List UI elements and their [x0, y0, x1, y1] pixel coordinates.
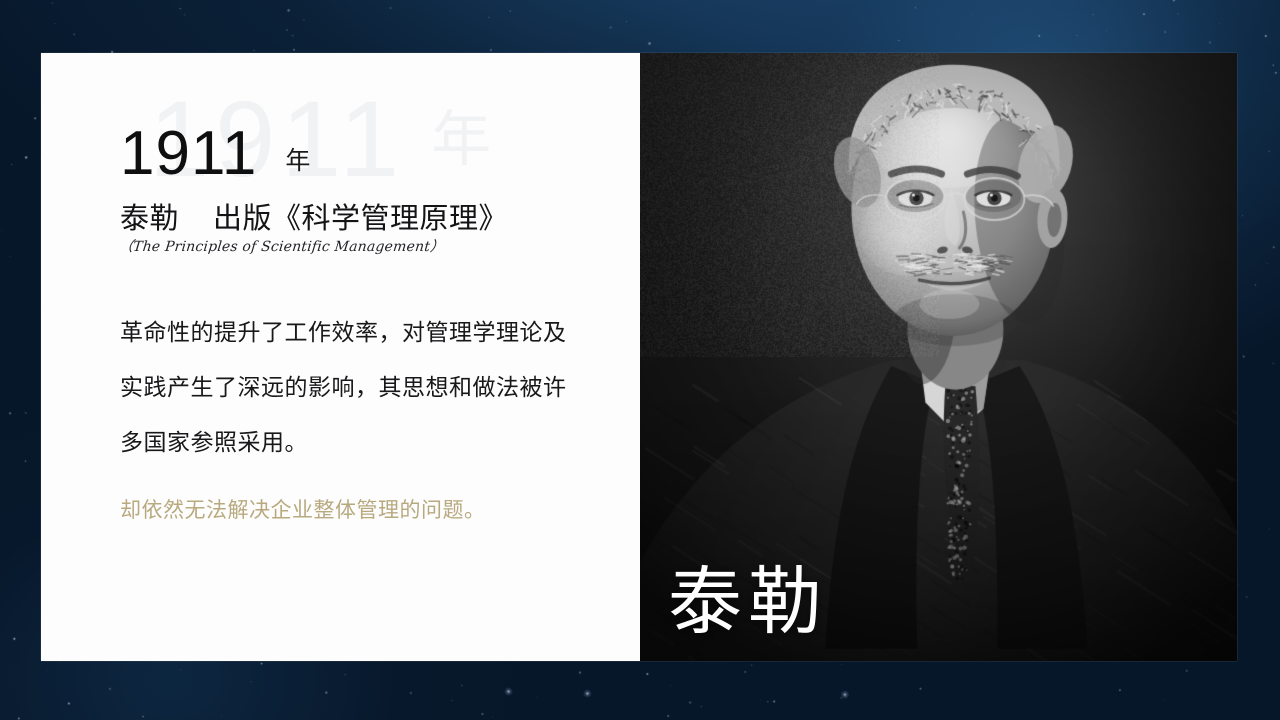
slide-canvas: 1911年 1911年 泰勒出版《科学管理原理》 （The Principles…	[0, 0, 1280, 720]
subline-action: 出版《科学管理原理》	[213, 203, 508, 235]
script-subtitle: （The Principles of Scientific Management…	[118, 236, 446, 256]
subline-person: 泰勒	[120, 203, 179, 235]
text-pane: 1911年 1911年 泰勒出版《科学管理原理》 （The Principles…	[41, 53, 640, 661]
headline-subline: 泰勒出版《科学管理原理》	[120, 195, 508, 237]
watermark-unit: 年	[431, 106, 491, 173]
content-card: 1911年 1911年 泰勒出版《科学管理原理》 （The Principles…	[41, 53, 1237, 661]
body-line: 多国家参照采用。	[120, 415, 600, 470]
portrait-photo: 泰勒	[640, 53, 1237, 661]
headline-year-number: 1911	[120, 119, 257, 188]
headline-year: 1911年	[120, 123, 310, 185]
photo-caption: 泰勒	[668, 565, 828, 639]
highlight-note: 却依然无法解决企业整体管理的问题。	[120, 496, 486, 525]
body-line: 革命性的提升了工作效率，对管理学理论及	[120, 305, 600, 360]
body-paragraph: 革命性的提升了工作效率，对管理学理论及 实践产生了深远的影响，其思想和做法被许 …	[120, 305, 600, 470]
headline-year-unit: 年	[285, 147, 310, 175]
body-line: 实践产生了深远的影响，其思想和做法被许	[120, 360, 600, 415]
